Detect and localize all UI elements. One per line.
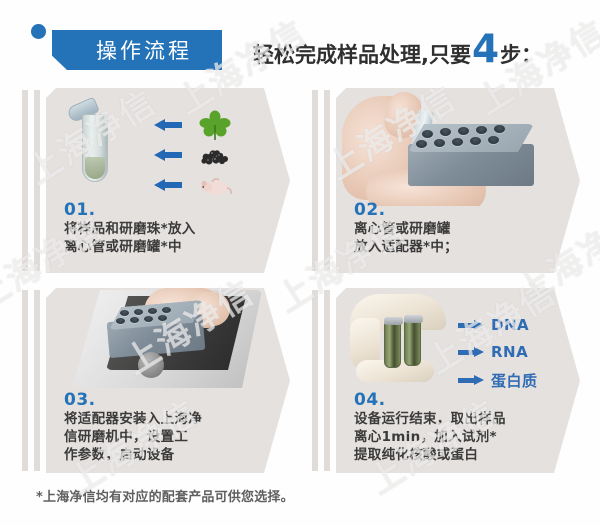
step-card-3: 03. 将适配器安装入上海净 信研磨机中，设置工 作参数，启动设备 — [22, 288, 290, 473]
headline-prefix: 轻松完成样品处理,只要 — [253, 39, 471, 69]
step-line: 将适配器安装入上海净 — [64, 410, 278, 428]
leaf-svg — [199, 110, 231, 140]
card-accent-bar — [324, 290, 330, 471]
badge-label: 操作流程 — [52, 30, 222, 70]
badge-dot-icon — [31, 24, 46, 39]
vial-cap — [384, 317, 403, 325]
headline-suffix: 步： — [500, 39, 542, 69]
sample-row-leaf — [154, 110, 232, 140]
step-line: 将样品和研磨珠*放入 — [64, 220, 278, 238]
adapter-hole — [434, 139, 445, 147]
sample-vial — [404, 320, 421, 366]
adapter-hole — [440, 128, 451, 136]
step-card-2: 02. 离心管或研磨罐 放入适配器*中； — [312, 88, 580, 273]
card-body: 01. 将样品和研磨珠*放入 离心管或研磨罐*中 — [46, 88, 290, 273]
card-accent-bar — [312, 290, 318, 471]
card-accent-bar — [34, 90, 40, 271]
step-line: 放入适配器*中； — [354, 238, 568, 256]
step-line: 设备运行结束，取出样品 — [354, 410, 568, 428]
step-4-photo: DNA RNA 蛋白质 — [336, 288, 580, 390]
centrifuge-tube-icon — [82, 106, 108, 182]
tube-liquid — [85, 157, 105, 179]
grinder-knob-photo — [138, 352, 164, 378]
section-badge: 操作流程 — [52, 30, 222, 70]
beads-icon — [198, 140, 232, 170]
step-line: 作参数，启动设备 — [64, 446, 278, 464]
arrow-left-icon — [154, 149, 182, 162]
step-card-4: DNA RNA 蛋白质 04. 设备运行结束，取出样品 — [312, 288, 580, 473]
arrow-right-icon — [458, 320, 484, 331]
step-line: 提取纯化核酸或蛋白 — [354, 446, 568, 464]
step-3-text: 03. 将适配器安装入上海净 信研磨机中，设置工 作参数，启动设备 — [64, 390, 278, 464]
adapter-hole — [476, 126, 487, 134]
sample-row-mouse — [154, 170, 232, 200]
arrow-left-icon — [154, 119, 182, 132]
card-body: 02. 离心管或研磨罐 放入适配器*中； — [336, 88, 580, 273]
adapter-hole — [162, 307, 171, 313]
adapter-hole — [452, 138, 463, 146]
step-2-text: 02. 离心管或研磨罐 放入适配器*中； — [354, 200, 568, 256]
adapter-hole — [488, 136, 499, 144]
adapter-hole — [134, 309, 143, 315]
adapter-hole — [144, 316, 153, 322]
card-accent-bar — [312, 90, 318, 271]
adapter-hole — [130, 317, 139, 323]
card-accent-bar — [22, 290, 28, 471]
arrow-right-icon — [458, 347, 484, 358]
step-line: 离心管或研磨罐*中 — [64, 238, 278, 256]
leaf-icon — [198, 110, 232, 140]
output-row-rna: RNA — [458, 343, 538, 361]
card-accent-bar — [324, 90, 330, 271]
adapter-hole — [158, 315, 167, 321]
headline: 轻松完成样品处理,只要4步： — [253, 30, 542, 74]
sample-vial — [384, 322, 401, 368]
mouse-icon — [198, 170, 232, 200]
step-line: 信研磨机中，设置工 — [64, 428, 278, 446]
adapter-hole — [116, 318, 125, 324]
step-number: 02. — [354, 200, 568, 220]
beads-svg — [198, 140, 232, 170]
output-label: 蛋白质 — [491, 370, 538, 390]
step-line: 离心管或研磨罐 — [354, 220, 568, 238]
step-1-text: 01. 将样品和研磨珠*放入 离心管或研磨罐*中 — [64, 200, 278, 256]
card-accent-bar — [34, 290, 40, 471]
page-header: 操作流程 轻松完成样品处理,只要4步： — [0, 0, 600, 86]
arrow-left-icon — [154, 179, 182, 192]
output-legend: DNA RNA 蛋白质 — [458, 316, 538, 390]
step-1-illustration — [46, 88, 290, 206]
adapter-hole — [494, 125, 505, 133]
headline-step-count: 4 — [472, 30, 499, 69]
arrow-right-icon — [458, 375, 484, 386]
card-body: 03. 将适配器安装入上海净 信研磨机中，设置工 作参数，启动设备 — [46, 288, 290, 473]
step-number: 03. — [64, 390, 278, 410]
output-row-protein: 蛋白质 — [458, 370, 538, 390]
output-label: DNA — [491, 316, 529, 334]
step-number: 01. — [64, 200, 278, 220]
output-row-dna: DNA — [458, 316, 538, 334]
adapter-hole — [458, 127, 469, 135]
output-label: RNA — [491, 343, 528, 361]
adapter-hole — [422, 130, 433, 138]
step-3-photo — [46, 288, 290, 390]
adapter-hole — [148, 308, 157, 314]
footnote: *上海净信均有对应的配套产品可供您选择。 — [36, 486, 294, 505]
card-accent-bar — [22, 90, 28, 271]
vial-cap — [404, 315, 423, 323]
tube-body — [82, 114, 108, 182]
mouse-svg — [198, 170, 232, 200]
step-line: 离心1min，加入试剂* — [354, 428, 568, 446]
card-body: DNA RNA 蛋白质 04. 设备运行结束，取出样品 — [336, 288, 580, 473]
infographic-page: 操作流程 轻松完成样品处理,只要4步： — [0, 0, 600, 526]
sample-row-beads — [154, 140, 232, 170]
step-card-1: 01. 将样品和研磨珠*放入 离心管或研磨罐*中 — [22, 88, 290, 273]
step-2-photo — [336, 88, 580, 206]
steps-grid: 01. 将样品和研磨珠*放入 离心管或研磨罐*中 — [0, 88, 600, 478]
adapter-hole — [416, 140, 427, 148]
adapter-hole — [470, 137, 481, 145]
step-4-text: 04. 设备运行结束，取出样品 离心1min，加入试剂* 提取纯化核酸或蛋白 — [354, 390, 568, 464]
adapter-hole — [120, 310, 129, 316]
step-number: 04. — [354, 390, 568, 410]
